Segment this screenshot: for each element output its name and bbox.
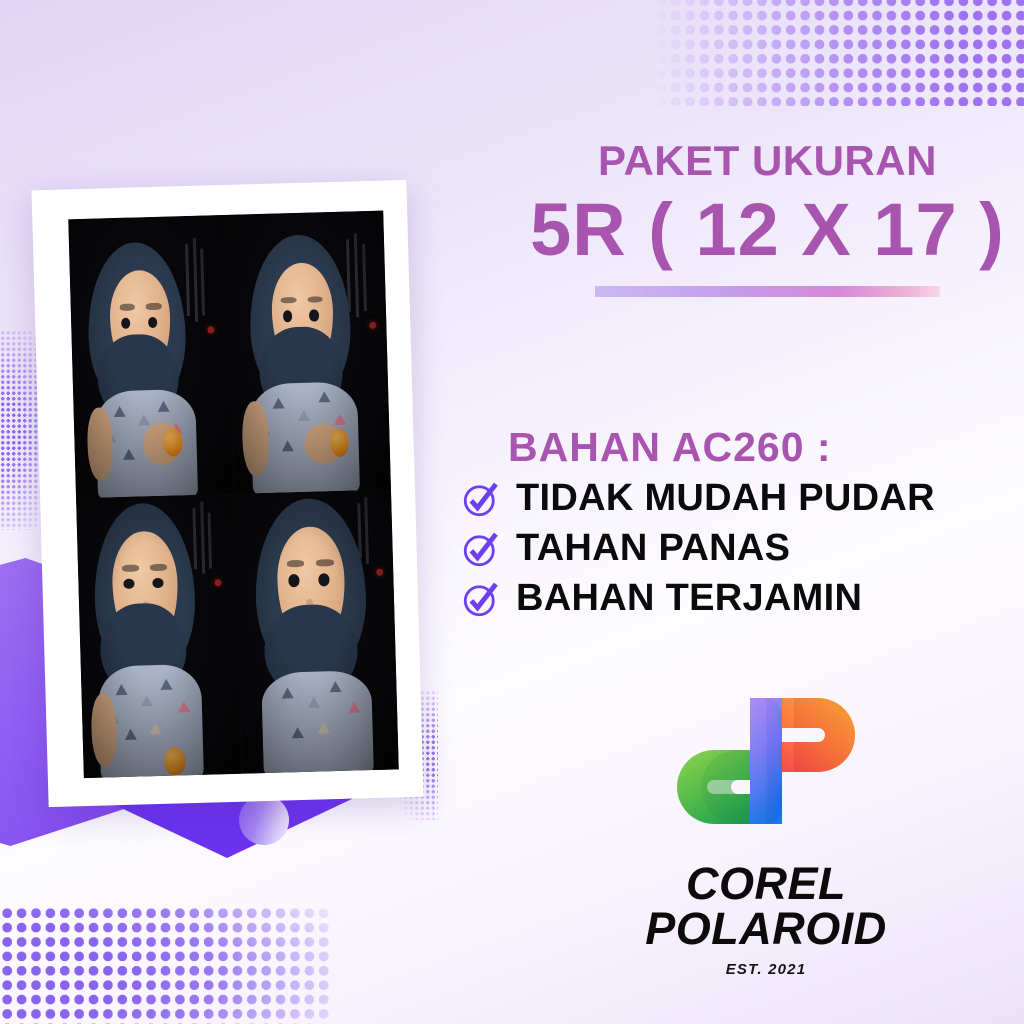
feature-row: TAHAN PANAS xyxy=(460,528,1020,570)
photo-cell xyxy=(235,491,399,774)
halftone-dots-bottom-left-icon xyxy=(0,906,330,1024)
photo-vignette xyxy=(68,215,232,498)
feature-row: BAHAN TERJAMIN xyxy=(460,578,1020,620)
material-block: BAHAN AC260 : TIDAK MUDAH PUDAR TAHAN PA… xyxy=(460,425,1020,620)
photo-grid xyxy=(68,211,398,779)
headline-block: PAKET UKURAN 5R ( 12 X 17 ) xyxy=(520,140,1015,297)
feature-label: BAHAN TERJAMIN xyxy=(516,579,862,619)
feature-label: TIDAK MUDAH PUDAR xyxy=(516,479,935,519)
check-circle-icon xyxy=(460,528,502,570)
photo-vignette xyxy=(76,495,240,778)
check-circle-icon xyxy=(460,578,502,620)
headline-size-label: 5R ( 12 X 17 ) xyxy=(520,190,1015,270)
cp-monogram-icon xyxy=(652,668,880,853)
poster-canvas: PAKET UKURAN 5R ( 12 X 17 ) BAHAN AC260 … xyxy=(0,0,1024,1024)
logo-block: COREL POLAROID EST. 2021 xyxy=(566,668,966,978)
logo-wordmark: COREL POLAROID xyxy=(566,861,966,951)
halftone-dots-top-right-icon xyxy=(654,0,1024,106)
photo-cell xyxy=(76,495,240,778)
gradient-ball-shape xyxy=(239,795,289,845)
photo-cell xyxy=(227,211,391,494)
polaroid-print-sample xyxy=(31,180,423,807)
headline-kicker: PAKET UKURAN xyxy=(520,140,1015,182)
material-title: BAHAN AC260 : xyxy=(508,425,1020,470)
feature-row: TIDAK MUDAH PUDAR xyxy=(460,478,1020,520)
headline-divider xyxy=(595,286,940,297)
photo-vignette xyxy=(235,491,399,774)
photo-vignette xyxy=(227,211,391,494)
check-circle-icon xyxy=(460,478,502,520)
logo-tagline: EST. 2021 xyxy=(566,961,966,978)
feature-label: TAHAN PANAS xyxy=(516,529,790,569)
photo-cell xyxy=(68,215,232,498)
